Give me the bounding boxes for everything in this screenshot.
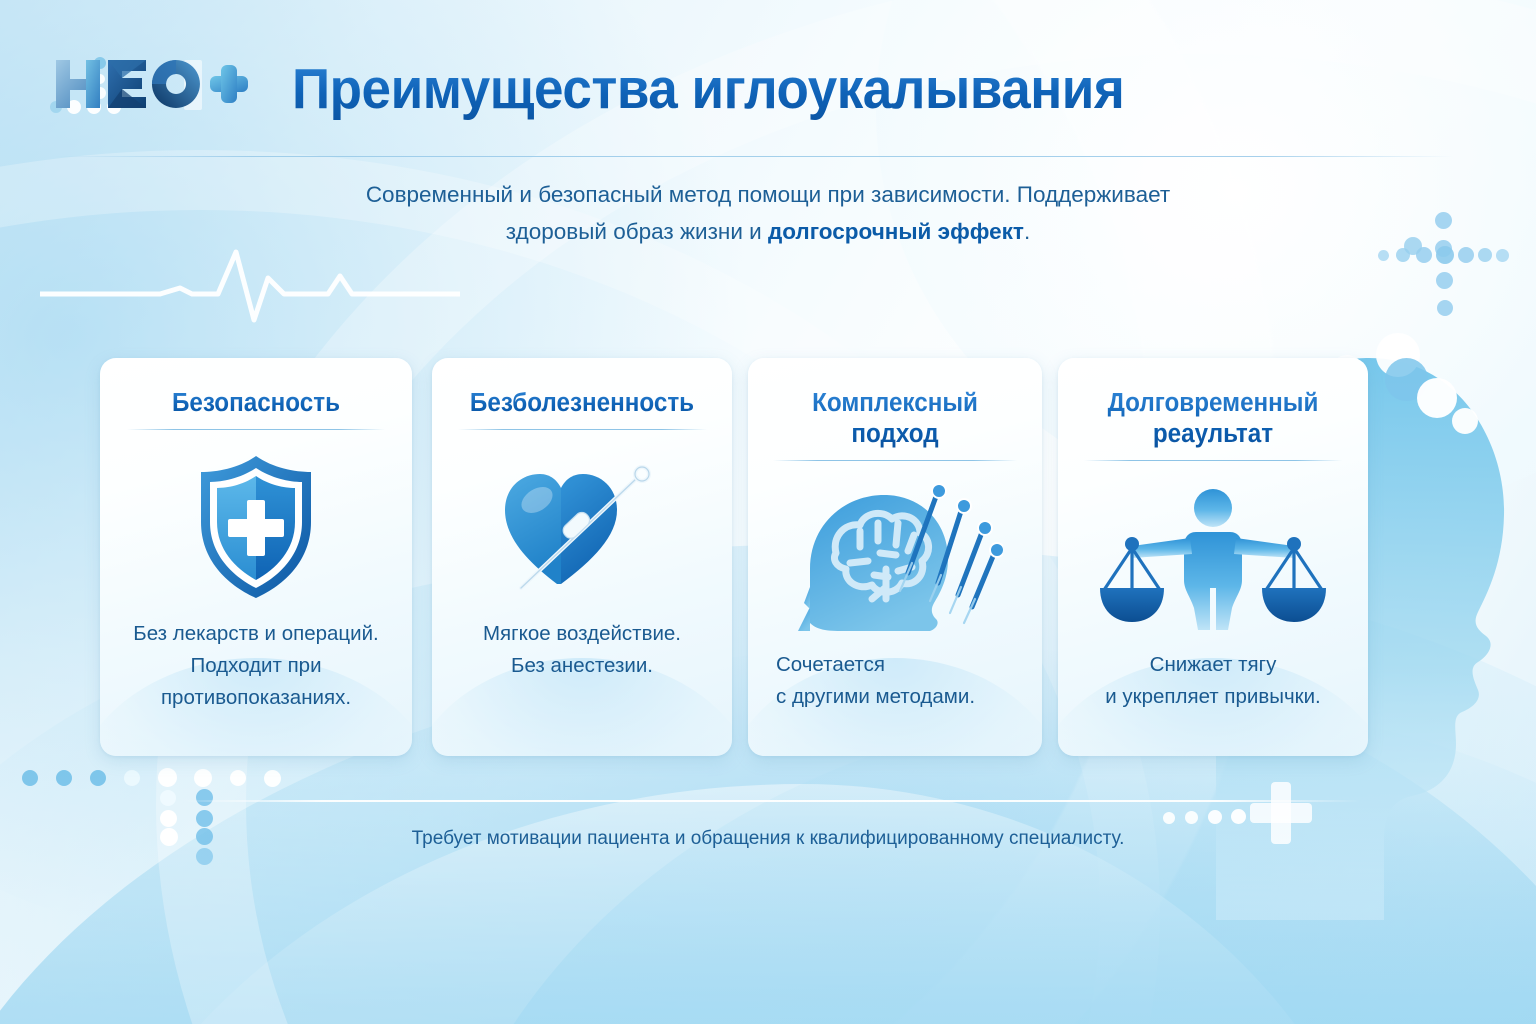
card-title: Безболезненность xyxy=(453,388,711,419)
benefit-cards: Безопасность xyxy=(0,358,1536,758)
card-icon-wrap xyxy=(1058,473,1368,643)
subtitle-line-1: Современный и безопасный метод помощи пр… xyxy=(366,182,1170,207)
decor-circle xyxy=(1404,237,1422,255)
card-text: Сочетается с другими методами. xyxy=(776,649,1026,713)
card-text-line-2: с другими методами. xyxy=(776,685,975,708)
figure-balance-scales-icon xyxy=(1098,484,1328,632)
header-divider xyxy=(54,156,1454,157)
card-text: Снижает тягу и укрепляет привычки. xyxy=(1074,649,1352,713)
benefit-card-long-term-result[interactable]: Долговременный реаультат xyxy=(1058,358,1368,756)
card-divider xyxy=(1084,460,1341,461)
card-title: Долговременный реаультат xyxy=(1079,388,1347,450)
card-divider xyxy=(773,460,1017,461)
subtitle-highlight: долгосрочный эффект xyxy=(768,219,1024,244)
footer-note: Требует мотивации пациента и обращения к… xyxy=(268,824,1268,854)
card-text-line-1: Мягкое воздействие. xyxy=(483,622,681,645)
shield-with-cross-icon xyxy=(191,452,321,602)
background-wave-white xyxy=(60,784,1410,1024)
card-text-line-2: и укрепляет привычки. xyxy=(1105,685,1321,708)
card-text: Без лекарств и операций. Подходит при пр… xyxy=(116,618,396,714)
infographic-canvas: Преимущества иглоукалывания Современный … xyxy=(0,0,1536,1024)
card-title: Комплексный подход xyxy=(769,388,1022,450)
card-icon-wrap xyxy=(748,473,1042,643)
subtitle: Современный и безопасный метод помощи пр… xyxy=(268,176,1268,250)
page-title: Преимущества иглоукалывания xyxy=(292,56,1124,122)
card-text-line-2: Подходит при xyxy=(190,654,321,677)
card-text-line-3: противопоказаниях. xyxy=(161,686,351,709)
neo-plus-logo xyxy=(48,52,248,124)
footer-divider xyxy=(180,800,1360,802)
card-divider xyxy=(458,429,707,430)
card-icon-wrap xyxy=(100,442,412,612)
card-text-line-1: Без лекарств и операций. xyxy=(133,622,379,645)
benefit-card-safety[interactable]: Безопасность xyxy=(100,358,412,756)
heart-with-needle-icon xyxy=(495,452,670,602)
head-brain-needles-icon xyxy=(788,483,1003,633)
card-text-line-1: Снижает тягу xyxy=(1150,653,1277,676)
card-title: Безопасность xyxy=(121,388,391,419)
subtitle-line-2-suffix: . xyxy=(1024,219,1030,244)
header: Преимущества иглоукалывания xyxy=(0,0,1536,158)
benefit-card-painless[interactable]: Безболезненность xyxy=(432,358,732,756)
subtitle-line-2-prefix: здоровый образ жизни и xyxy=(506,219,768,244)
card-icon-wrap xyxy=(432,442,732,612)
card-text-line-2: Без анестезии. xyxy=(511,654,653,677)
card-divider xyxy=(127,429,386,430)
card-text: Мягкое воздействие. Без анестезии. xyxy=(448,618,716,682)
benefit-card-complex-approach[interactable]: Комплексный подход xyxy=(748,358,1042,756)
card-text-line-1: Сочетается xyxy=(776,653,885,676)
heartbeat-line-icon xyxy=(40,238,460,328)
